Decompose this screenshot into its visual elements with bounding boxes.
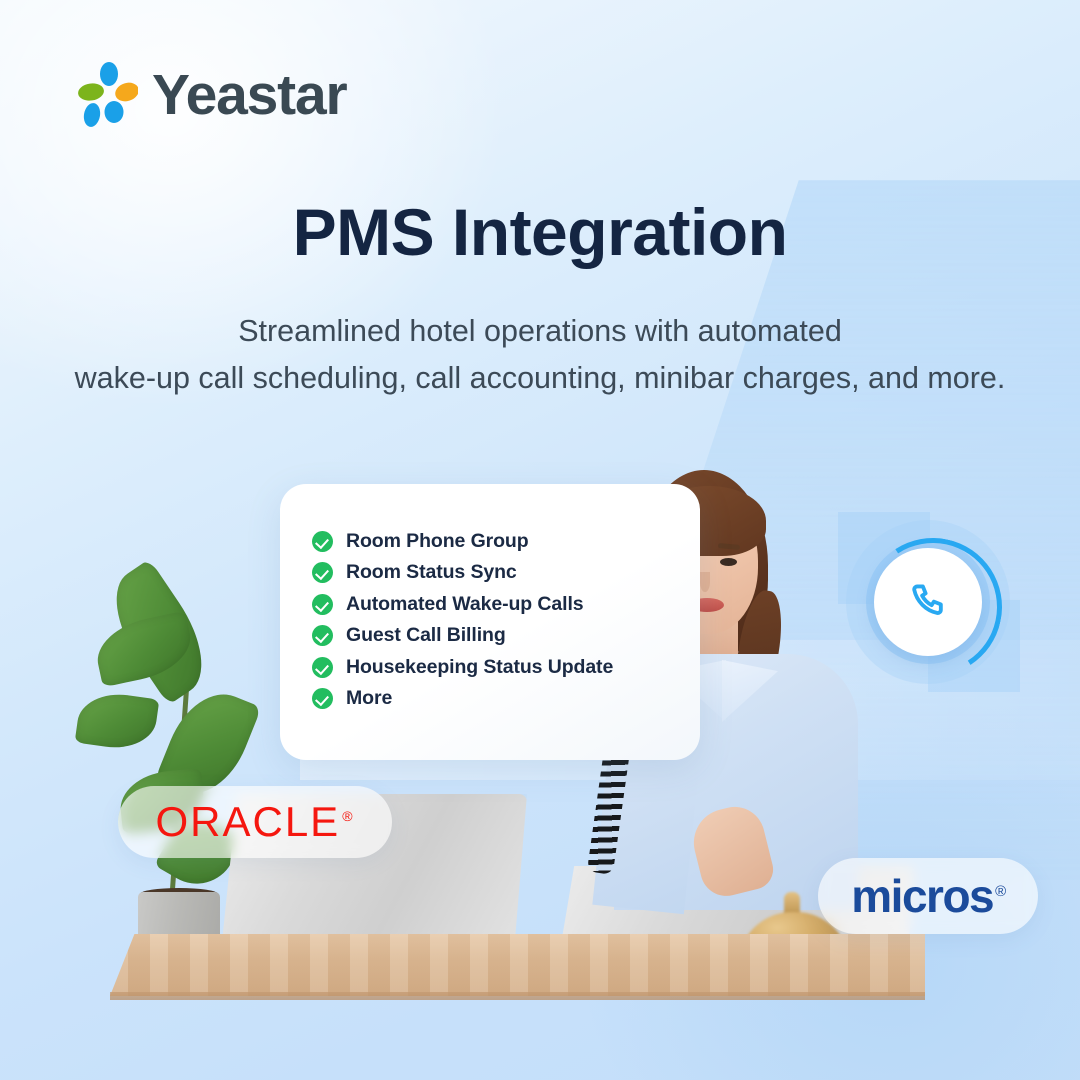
list-item[interactable]: More (312, 688, 732, 710)
page-subtitle: Streamlined hotel operations with automa… (0, 308, 1080, 403)
check-circle-icon (312, 531, 333, 552)
desk-grain (110, 934, 925, 996)
plant-leaf (75, 689, 160, 753)
feature-label: More (346, 687, 392, 710)
wooden-desk (110, 934, 925, 996)
registered-mark: ® (342, 808, 354, 824)
check-circle-icon (312, 688, 333, 709)
feature-label: Room Status Sync (346, 561, 517, 584)
micros-name: micros (851, 870, 993, 922)
list-item[interactable]: Room Status Sync (312, 562, 732, 584)
check-circle-icon (312, 562, 333, 583)
feature-label: Housekeeping Status Update (346, 656, 613, 679)
page-title: PMS Integration (0, 196, 1080, 269)
micros-wordmark: micros® (851, 873, 1004, 919)
desk-edge (110, 992, 925, 1000)
feature-list: Room Phone Group Room Status Sync Automa… (312, 530, 732, 710)
subtitle-line-2: wake-up call scheduling, call accounting… (0, 355, 1080, 402)
registered-mark: ® (995, 883, 1005, 900)
promo-graphic: Yeastar PMS Integration Streamlined hote… (0, 0, 1080, 1080)
partner-badge-oracle[interactable]: ORACLE® (118, 786, 392, 858)
badge-disc (874, 548, 982, 656)
feature-label: Automated Wake-up Calls (346, 593, 584, 616)
feature-label: Guest Call Billing (346, 624, 506, 647)
check-circle-icon (312, 594, 333, 615)
check-circle-icon (312, 657, 333, 678)
phone-badge[interactable] (838, 512, 1018, 692)
list-item[interactable]: Automated Wake-up Calls (312, 593, 732, 615)
phone-handset-icon (906, 580, 950, 624)
subtitle-line-1: Streamlined hotel operations with automa… (0, 308, 1080, 355)
list-item[interactable]: Guest Call Billing (312, 625, 732, 647)
brand-logo[interactable]: Yeastar (76, 62, 346, 128)
oracle-wordmark: ORACLE® (155, 798, 354, 846)
yeastar-flower-logo-icon (76, 62, 138, 128)
partner-badge-micros[interactable]: micros® (818, 858, 1038, 934)
oracle-name: ORACLE (155, 798, 340, 845)
feature-label: Room Phone Group (346, 530, 529, 553)
check-circle-icon (312, 625, 333, 646)
brand-wordmark: Yeastar (152, 67, 346, 124)
list-item[interactable]: Housekeeping Status Update (312, 656, 732, 678)
list-item[interactable]: Room Phone Group (312, 530, 732, 552)
